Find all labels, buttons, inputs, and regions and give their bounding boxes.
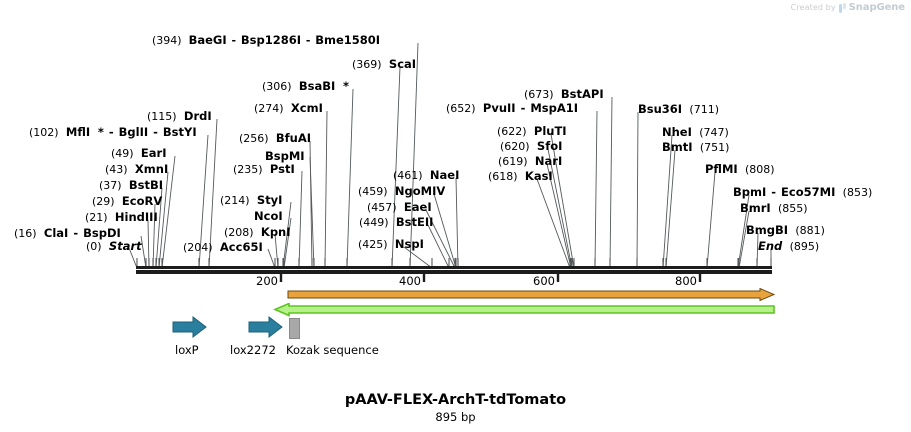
axis-tick-600: 600 xyxy=(533,274,555,288)
legend-kozak-box-icon[interactable] xyxy=(289,318,300,339)
axis-tick-200: 200 xyxy=(256,274,278,288)
site-label-bsu36i[interactable]: Bsu36I (711) xyxy=(638,103,719,116)
site-label-ecorv[interactable]: (29) EcoRV xyxy=(92,195,162,208)
watermark-prefix: Created by xyxy=(791,3,836,12)
site-label-nhei[interactable]: NheI (747) xyxy=(662,126,729,139)
legend-kozak-label: Kozak sequence xyxy=(286,343,379,357)
legend-lox2272-arrow-icon[interactable] xyxy=(248,315,284,339)
plasmid-map-canvas: Created by SnapGene xyxy=(0,0,911,432)
site-label-scai[interactable]: (369) ScaI xyxy=(352,58,416,71)
site-label-bsteii[interactable]: (449) BstEII xyxy=(359,216,433,229)
site-label-naei[interactable]: (461) NaeI xyxy=(393,169,459,182)
site-label-xmni[interactable]: (43) XmnI xyxy=(105,163,168,176)
site-label-styi[interactable]: (214) StyI xyxy=(220,194,282,207)
site-label-pflmi[interactable]: PflMI (808) xyxy=(705,163,775,176)
site-label-pvuii[interactable]: (652) PvuII - MspA1I xyxy=(446,102,578,115)
site-label-kasi[interactable]: (618) KasI xyxy=(488,170,553,183)
site-label-acc65i[interactable]: (204) Acc65I xyxy=(183,241,263,254)
site-label-start[interactable]: (0) Start xyxy=(86,240,142,253)
site-label-bmri[interactable]: BmrI (855) xyxy=(740,202,808,215)
site-label-bstapi[interactable]: (673) BstAPI xyxy=(524,88,604,101)
forward-orf-arrow[interactable] xyxy=(286,288,776,302)
snapgene-watermark: Created by SnapGene xyxy=(791,2,905,13)
snapgene-logo-icon xyxy=(839,3,846,13)
site-label-psti[interactable]: (235) PstI xyxy=(233,163,295,176)
legend-lox2272-label: lox2272 xyxy=(230,343,276,357)
site-label-bmgbi[interactable]: BmgBI (881) xyxy=(746,224,825,237)
axis-tick-800: 800 xyxy=(675,274,697,288)
site-label-pluti[interactable]: (622) PluTI xyxy=(497,125,567,138)
page-title: pAAV-FLEX-ArchT-tdTomato xyxy=(0,392,911,408)
site-label-bstbi[interactable]: (37) BstBI xyxy=(99,179,163,192)
site-label-end[interactable]: End (895) xyxy=(758,240,819,253)
legend-loxp-arrow-icon[interactable] xyxy=(172,315,208,339)
site-label-drdi[interactable]: (115) DrdI xyxy=(147,110,212,123)
site-label-eari[interactable]: (49) EarI xyxy=(111,147,166,160)
axis-tick-400: 400 xyxy=(399,274,421,288)
reverse-orf-arrow[interactable] xyxy=(273,303,776,317)
site-label-sfoi[interactable]: (620) SfoI xyxy=(500,140,562,153)
sequence-ruler-bar[interactable] xyxy=(136,266,772,269)
site-label-eaei[interactable]: (457) EaeI xyxy=(367,201,432,214)
site-label-bfuai[interactable]: (256) BfuAI xyxy=(239,132,311,145)
legend-loxp-label: loxP xyxy=(175,343,199,357)
site-label-baegi[interactable]: (394) BaeGI - Bsp1286I - Bme1580I xyxy=(152,34,380,47)
site-label-nspi[interactable]: (425) NspI xyxy=(358,238,424,251)
site-label-bmti[interactable]: BmtI (751) xyxy=(662,141,729,154)
site-label-bpmi[interactable]: BpmI - Eco57MI (853) xyxy=(733,186,872,199)
site-label-mfli[interactable]: (102) MflI * - BglII - BstYI xyxy=(29,126,197,139)
site-label-ncoi[interactable]: NcoI xyxy=(254,210,283,223)
site-label-nari[interactable]: (619) NarI xyxy=(498,155,562,168)
site-label-hindiii[interactable]: (21) HindIII xyxy=(85,211,158,224)
site-label-kpni[interactable]: (208) KpnI xyxy=(224,226,291,239)
site-label-bsabi[interactable]: (306) BsaBI * xyxy=(262,80,349,93)
site-label-ngomiv[interactable]: (459) NgoMIV xyxy=(358,185,445,198)
plasmid-length: 895 bp xyxy=(0,410,911,424)
watermark-brand: SnapGene xyxy=(849,2,905,13)
site-label-xcmi[interactable]: (274) XcmI xyxy=(254,102,323,115)
